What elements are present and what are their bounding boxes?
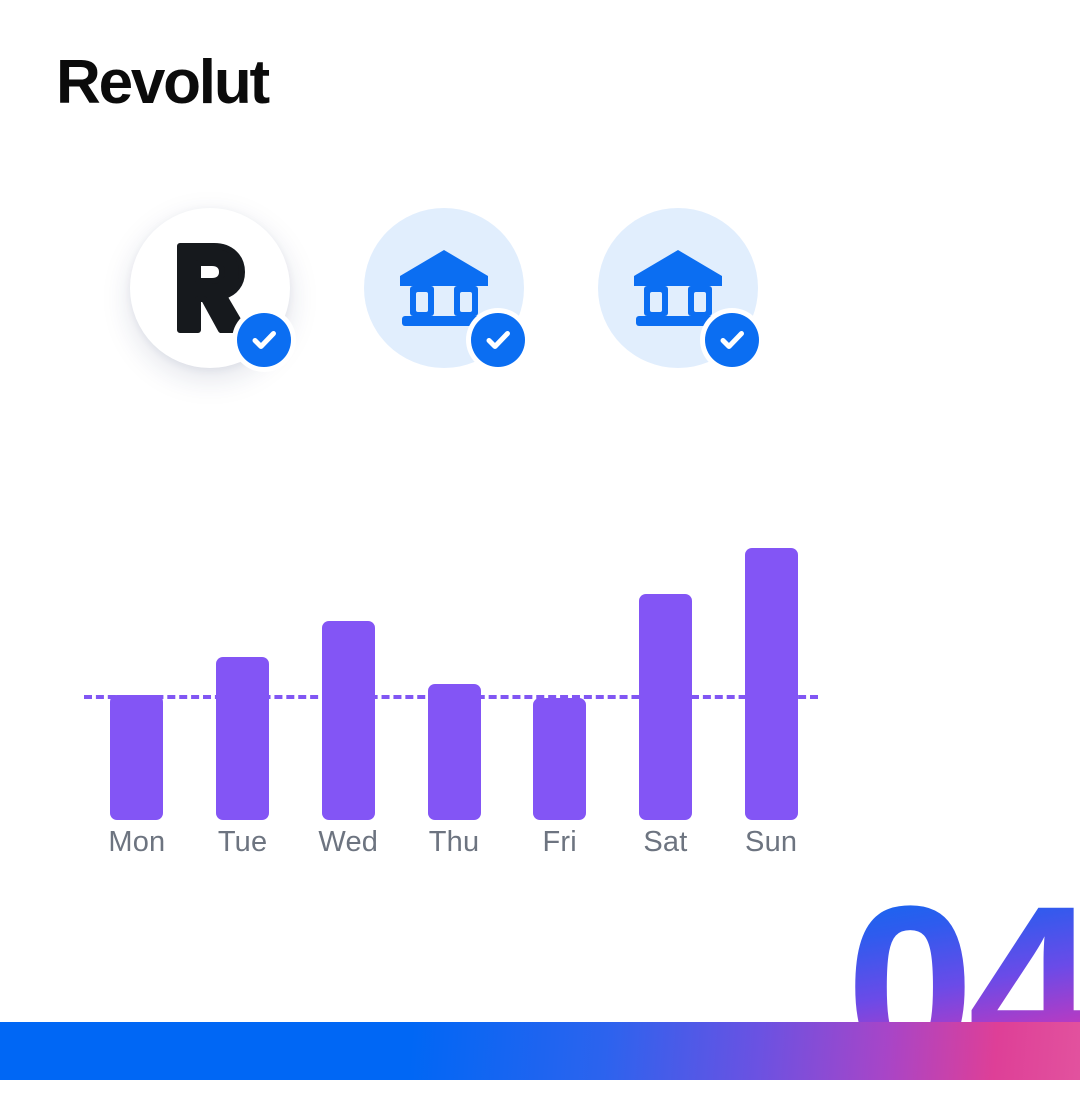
verified-badge-fill — [705, 313, 759, 367]
account-chip-bank-2[interactable] — [598, 208, 758, 368]
bottom-gradient-band — [0, 1022, 1080, 1080]
chart-x-tick-label: Fri — [500, 828, 620, 857]
chart-x-tick-label: Wed — [288, 828, 408, 857]
account-chip-revolut[interactable] — [130, 208, 290, 368]
check-icon — [717, 325, 747, 355]
revolut-promo-card: { "brand": { "name": "Revolut", "logo_co… — [0, 0, 1080, 1080]
chart-x-tick-label: Sat — [605, 828, 725, 857]
check-icon — [483, 325, 513, 355]
chart-x-axis: MonTueWedThuFriSatSun — [84, 828, 824, 872]
account-chip-bank-1[interactable] — [364, 208, 524, 368]
chart-bar[interactable] — [533, 698, 586, 820]
check-icon — [249, 325, 279, 355]
verified-badge-fill — [471, 313, 525, 367]
verified-badge — [232, 308, 296, 372]
chart-bar[interactable] — [322, 621, 375, 820]
verified-badge — [700, 308, 764, 372]
chart-plot-area — [84, 548, 824, 820]
linked-accounts-row — [130, 208, 758, 368]
chart-bar[interactable] — [745, 548, 798, 820]
chart-x-tick-label: Sun — [711, 828, 831, 857]
chart-bar[interactable] — [216, 657, 269, 820]
brand-wordmark: Revolut — [56, 52, 268, 114]
verified-badge — [466, 308, 530, 372]
chart-x-tick-label: Thu — [394, 828, 514, 857]
chart-x-tick-label: Tue — [183, 828, 303, 857]
chart-bar[interactable] — [110, 695, 163, 820]
chart-bar[interactable] — [428, 684, 481, 820]
chart-x-tick-label: Mon — [77, 828, 197, 857]
chart-bar[interactable] — [639, 594, 692, 820]
weekly-activity-chart: MonTueWedThuFriSatSun — [84, 548, 824, 883]
verified-badge-fill — [237, 313, 291, 367]
